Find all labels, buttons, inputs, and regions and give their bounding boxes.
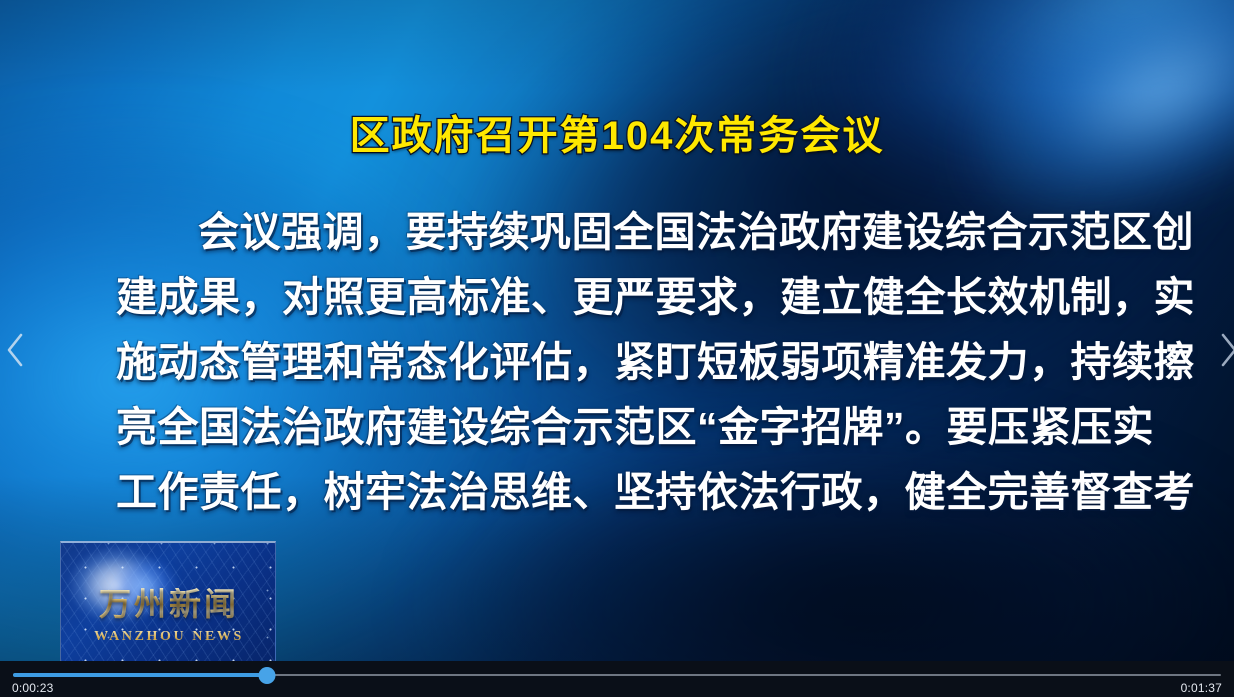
progress-filled bbox=[13, 673, 267, 677]
progress-bar[interactable] bbox=[13, 667, 1221, 683]
current-time-label: 0:00:23 bbox=[12, 681, 53, 695]
subtitle-line: 施动态管理和常态化评估，紧盯短板弱项精准发力，持续擦 bbox=[116, 330, 1162, 395]
video-player[interactable]: 区政府召开第104次常务会议 会议强调，要持续巩固全国法治政府建设综合示范区创 … bbox=[0, 0, 1234, 697]
subtitle-line: 工作责任，树牢法治思维、坚持依法行政，健全完善督查考 bbox=[116, 460, 1162, 525]
total-time-label: 0:01:37 bbox=[1181, 681, 1222, 695]
previous-video-button[interactable] bbox=[2, 330, 28, 370]
station-logo-watermark: 万州新闻 WANZHOU NEWS bbox=[60, 541, 276, 661]
news-headline: 区政府召开第104次常务会议 bbox=[0, 103, 1234, 161]
subtitle-line: 亮全国法治政府建设综合示范区“金字招牌”。要压紧压实 bbox=[116, 395, 1162, 460]
subtitle-line: 会议强调，要持续巩固全国法治政府建设综合示范区创 bbox=[116, 200, 1162, 265]
logo-name-english: WANZHOU NEWS bbox=[61, 629, 276, 645]
next-video-button[interactable] bbox=[1216, 330, 1234, 370]
player-controls-bar[interactable]: 0:00:23 0:01:37 bbox=[0, 661, 1234, 697]
subtitle-block: 会议强调，要持续巩固全国法治政府建设综合示范区创 建成果，对照更高标准、更严要求… bbox=[116, 200, 1162, 525]
progress-handle[interactable] bbox=[258, 667, 275, 684]
logo-name-chinese: 万州新闻 bbox=[61, 588, 276, 620]
video-stage[interactable]: 区政府召开第104次常务会议 会议强调，要持续巩固全国法治政府建设综合示范区创 … bbox=[0, 0, 1234, 661]
chevron-right-icon bbox=[1216, 330, 1234, 370]
chevron-left-icon bbox=[2, 330, 28, 370]
subtitle-line: 建成果，对照更高标准、更严要求，建立健全长效机制，实 bbox=[116, 265, 1162, 330]
